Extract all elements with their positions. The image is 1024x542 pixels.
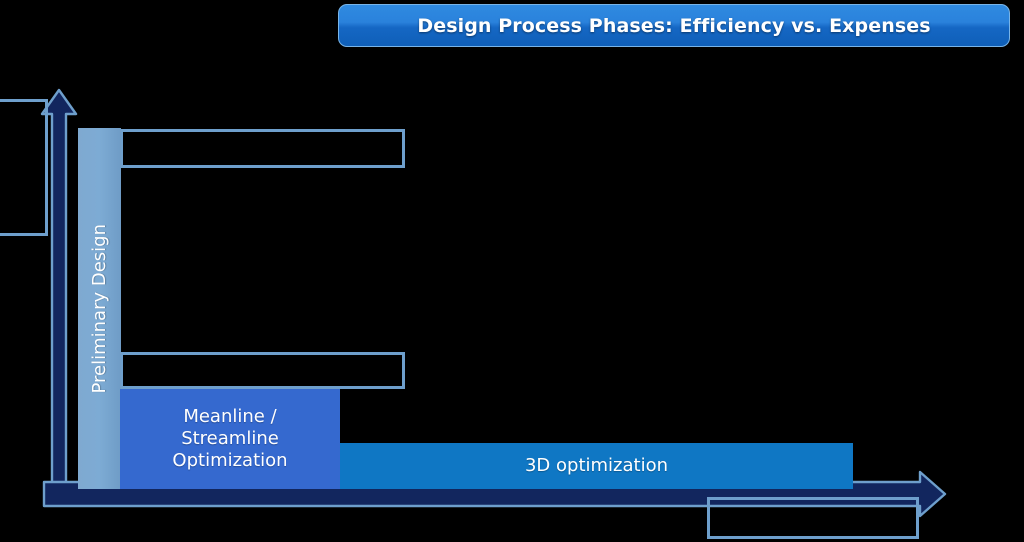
y-axis-label-box[interactable] [0, 99, 48, 236]
phase-bar-meanline-streamline-optimization[interactable]: Meanline / Streamline Optimization [120, 389, 340, 489]
phase-bar-preliminary-design-label: Preliminary Design [91, 224, 109, 394]
chart-title-banner: Design Process Phases: Efficiency vs. Ex… [338, 4, 1010, 47]
page-title: Design Process Phases: Efficiency vs. Ex… [417, 15, 930, 37]
phase-bar-meanline-line-3: Optimization [172, 450, 287, 471]
phase-bar-3d-optimization-label: 3D optimization [525, 457, 668, 475]
callout-box-top[interactable] [120, 129, 405, 168]
x-axis-label-text [710, 500, 916, 536]
phase-bar-meanline-line-1: Meanline / [183, 406, 276, 427]
callout-box-bottom[interactable] [120, 352, 405, 389]
y-axis-label-text [0, 102, 45, 233]
phase-bar-preliminary-design[interactable]: Preliminary Design [78, 128, 121, 489]
phase-bar-3d-optimization[interactable]: 3D optimization [340, 443, 853, 489]
x-axis-label-box[interactable] [707, 497, 919, 539]
phase-bar-meanline-streamline-label: Meanline / Streamline Optimization [172, 406, 287, 472]
callout-box-top-text [123, 132, 402, 165]
phase-bar-meanline-line-2: Streamline [181, 428, 279, 449]
callout-box-bottom-text [123, 355, 402, 386]
